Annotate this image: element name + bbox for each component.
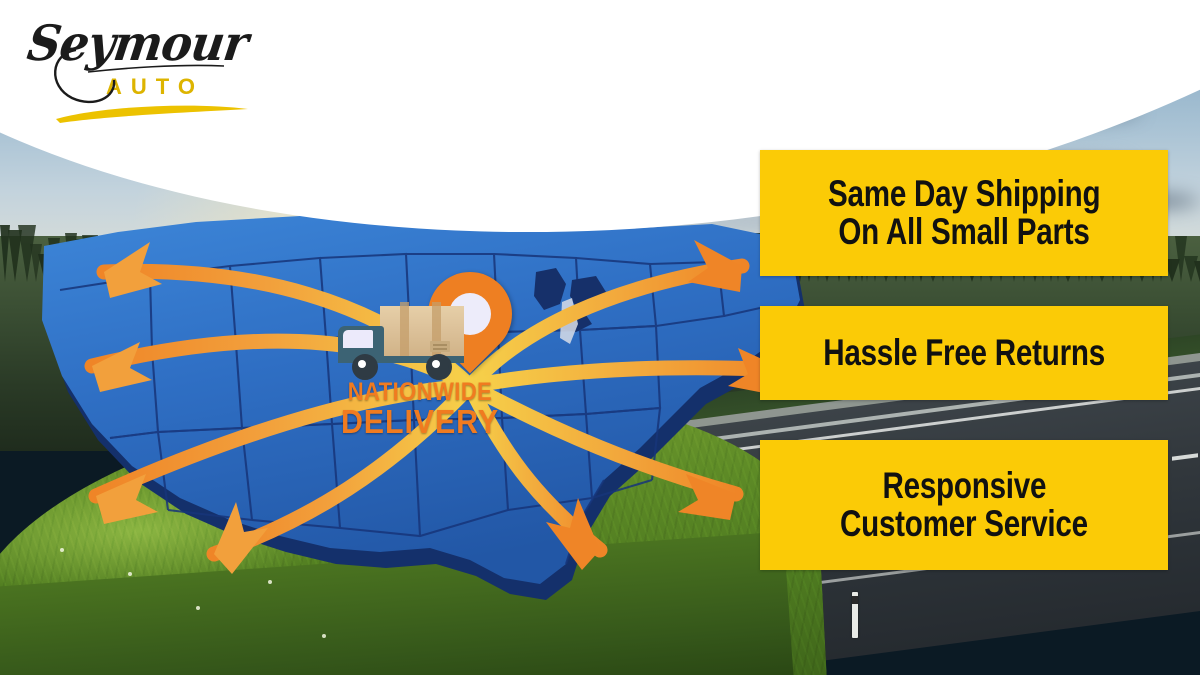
feature-box-hassle-free-returns[interactable]: Hassle Free Returns — [760, 306, 1168, 400]
feature-line: Hassle Free Returns — [823, 334, 1105, 372]
brand-subtitle: AUTO — [106, 74, 204, 100]
feature-line: Responsive — [882, 467, 1046, 505]
feature-line: Customer Service — [840, 505, 1088, 543]
brand-name: Seymour — [24, 14, 251, 71]
feature-line: On All Small Parts — [838, 213, 1089, 251]
nationwide-label: NATIONWIDE — [332, 380, 508, 405]
seymour-auto-logo[interactable]: Seymour AUTO — [28, 14, 258, 124]
logo-swoosh-icon — [54, 100, 250, 124]
promo-banner: NATIONWIDE DELIVERY Seymour AUTO Same Da… — [0, 0, 1200, 675]
nationwide-delivery-text: NATIONWIDE DELIVERY — [320, 380, 520, 440]
feature-box-responsive-customer-service[interactable]: Responsive Customer Service — [760, 440, 1168, 570]
feature-box-same-day-shipping[interactable]: Same Day Shipping On All Small Parts — [760, 150, 1168, 276]
feature-line: Same Day Shipping — [828, 175, 1100, 213]
delivery-label: DELIVERY — [328, 405, 512, 440]
